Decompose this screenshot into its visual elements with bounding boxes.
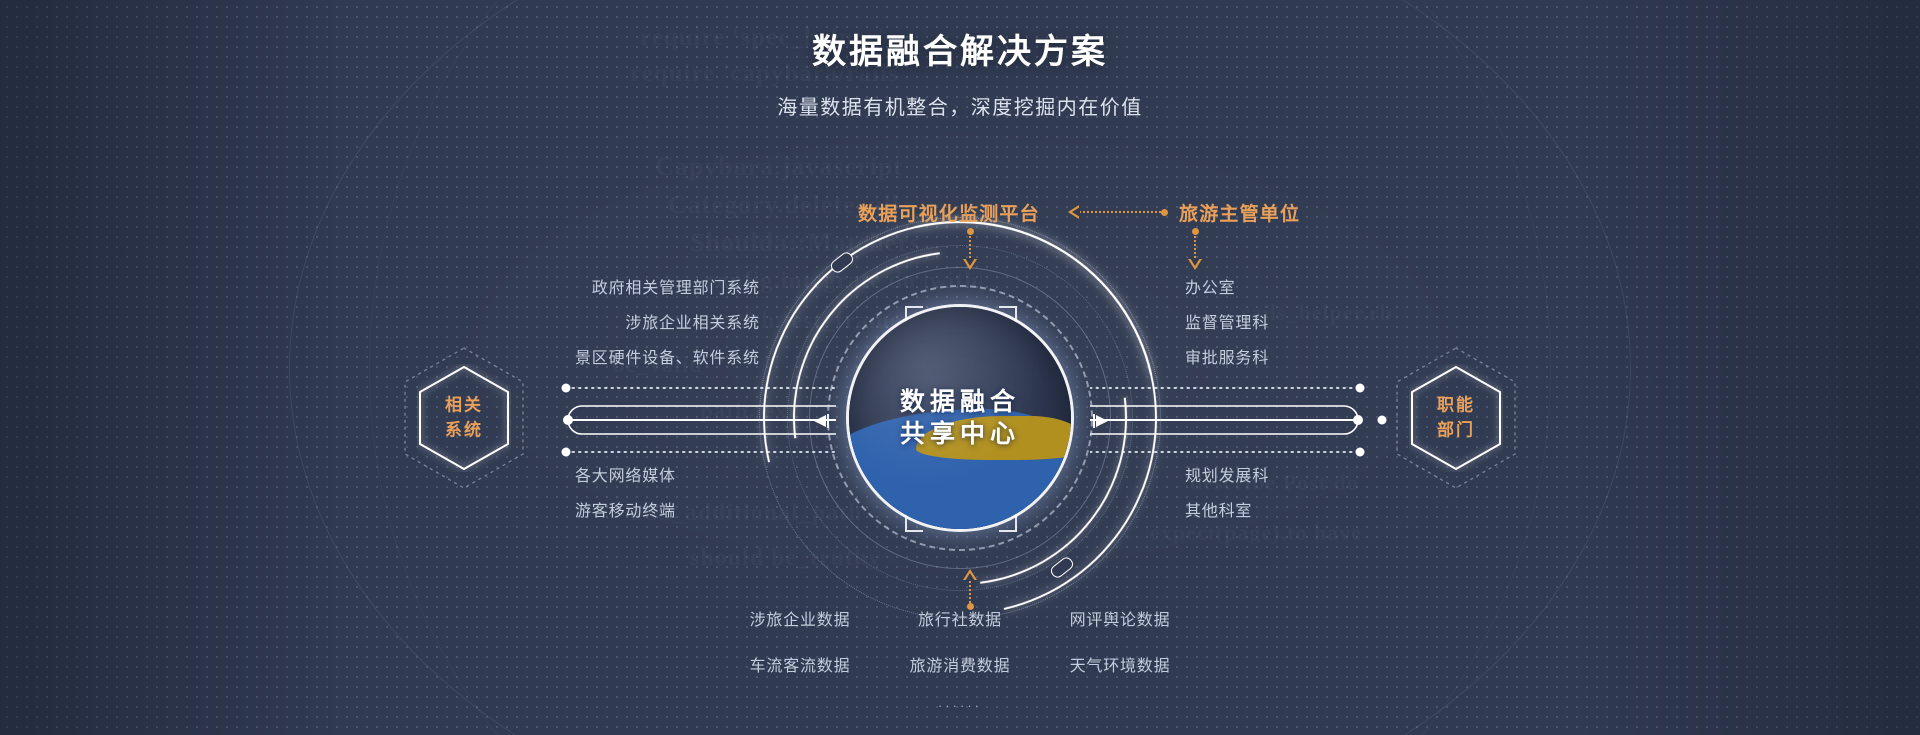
arrow-data-sources-to-core <box>963 568 977 610</box>
list-item[interactable]: 办公室 <box>1185 281 1269 297</box>
list-item[interactable]: 涉旅企业相关系统 <box>575 316 760 332</box>
arrow-platform-to-core <box>963 228 977 270</box>
hexagon-left-line2: 系统 <box>445 418 483 443</box>
arrow-dotted-line <box>1194 236 1196 258</box>
core-label-line1: 数据融合 <box>845 386 1075 418</box>
arrow-dotted-line <box>969 236 971 258</box>
hexagon-right-label: 职能 部门 <box>1437 393 1475 442</box>
bottom-ellipsis: ······ <box>725 698 1195 713</box>
bottom-cell[interactable]: 旅游消费数据 <box>885 652 1035 676</box>
core-label: 数据融合 共享中心 <box>845 386 1075 450</box>
list-item[interactable]: 其他科室 <box>1185 504 1269 520</box>
header: 数据融合解决方案 海量数据有机整合，深度挖掘内在价值 <box>0 34 1920 120</box>
hexagon-left-label: 相关 系统 <box>445 393 483 442</box>
arrow-origin-dot-icon <box>1161 209 1168 216</box>
arrow-dotted-line <box>1079 211 1161 213</box>
bottom-cell[interactable]: 车流客流数据 <box>725 652 875 676</box>
list-item[interactable]: 政府相关管理部门系统 <box>575 281 760 297</box>
bottom-cell[interactable]: 天气环境数据 <box>1045 652 1195 676</box>
solution-diagram-canvas: require 'spec_helper' require 'capybara/… <box>0 0 1920 735</box>
list-item[interactable]: 游客移动终端 <box>575 504 676 520</box>
list-item[interactable]: 规划发展科 <box>1185 469 1269 485</box>
hexagon-left-line1: 相关 <box>445 393 483 418</box>
left-top-source-list: 政府相关管理部门系统 涉旅企业相关系统 景区硬件设备、软件系统 <box>575 281 760 386</box>
list-item[interactable]: 监督管理科 <box>1185 316 1269 332</box>
bottom-cell[interactable]: 涉旅企业数据 <box>725 606 875 630</box>
arrow-origin-dot-icon <box>1192 228 1199 235</box>
page-title: 数据融合解决方案 <box>0 34 1920 71</box>
page-subtitle: 海量数据有机整合，深度挖掘内在价值 <box>0 91 1920 120</box>
arrow-dotted-line <box>969 581 971 603</box>
list-item[interactable]: 审批服务科 <box>1185 351 1269 367</box>
hexagon-functional-departments[interactable]: 职能 部门 <box>1392 345 1520 491</box>
arrow-head-down-icon <box>1188 259 1202 270</box>
bottom-cell[interactable]: 网评舆论数据 <box>1045 606 1195 630</box>
arrow-head-left-icon <box>1068 205 1079 219</box>
hexagon-right-line2: 部门 <box>1437 418 1475 443</box>
hexagon-related-systems[interactable]: 相关 系统 <box>400 345 528 491</box>
hexagon-right-line1: 职能 <box>1437 393 1475 418</box>
list-item[interactable]: 景区硬件设备、软件系统 <box>575 351 760 367</box>
list-item[interactable]: 各大网络媒体 <box>575 469 676 485</box>
arrow-head-down-icon <box>963 259 977 270</box>
label-tourism-authority[interactable]: 旅游主管单位 <box>1179 199 1300 226</box>
bottom-data-source-grid: 涉旅企业数据 旅行社数据 网评舆论数据 车流客流数据 旅游消费数据 天气环境数据… <box>725 606 1195 713</box>
bottom-row-2: 车流客流数据 旅游消费数据 天气环境数据 <box>725 652 1195 676</box>
right-bottom-department-list: 规划发展科 其他科室 <box>1185 469 1269 539</box>
arrow-authority-to-departments <box>1188 228 1202 270</box>
core-visual: 数据融合 共享中心 <box>750 208 1170 628</box>
arrow-head-up-icon <box>963 569 977 580</box>
core-label-line2: 共享中心 <box>845 418 1075 450</box>
left-bottom-source-list: 各大网络媒体 游客移动终端 <box>575 469 676 539</box>
label-data-visualization-platform[interactable]: 数据可视化监测平台 <box>858 199 1040 226</box>
arrow-origin-dot-icon <box>967 228 974 235</box>
arrow-authority-to-platform <box>1068 205 1168 219</box>
right-top-department-list: 办公室 监督管理科 审批服务科 <box>1185 281 1269 386</box>
bottom-row-1: 涉旅企业数据 旅行社数据 网评舆论数据 <box>725 606 1195 630</box>
bottom-cell[interactable]: 旅行社数据 <box>885 606 1035 630</box>
